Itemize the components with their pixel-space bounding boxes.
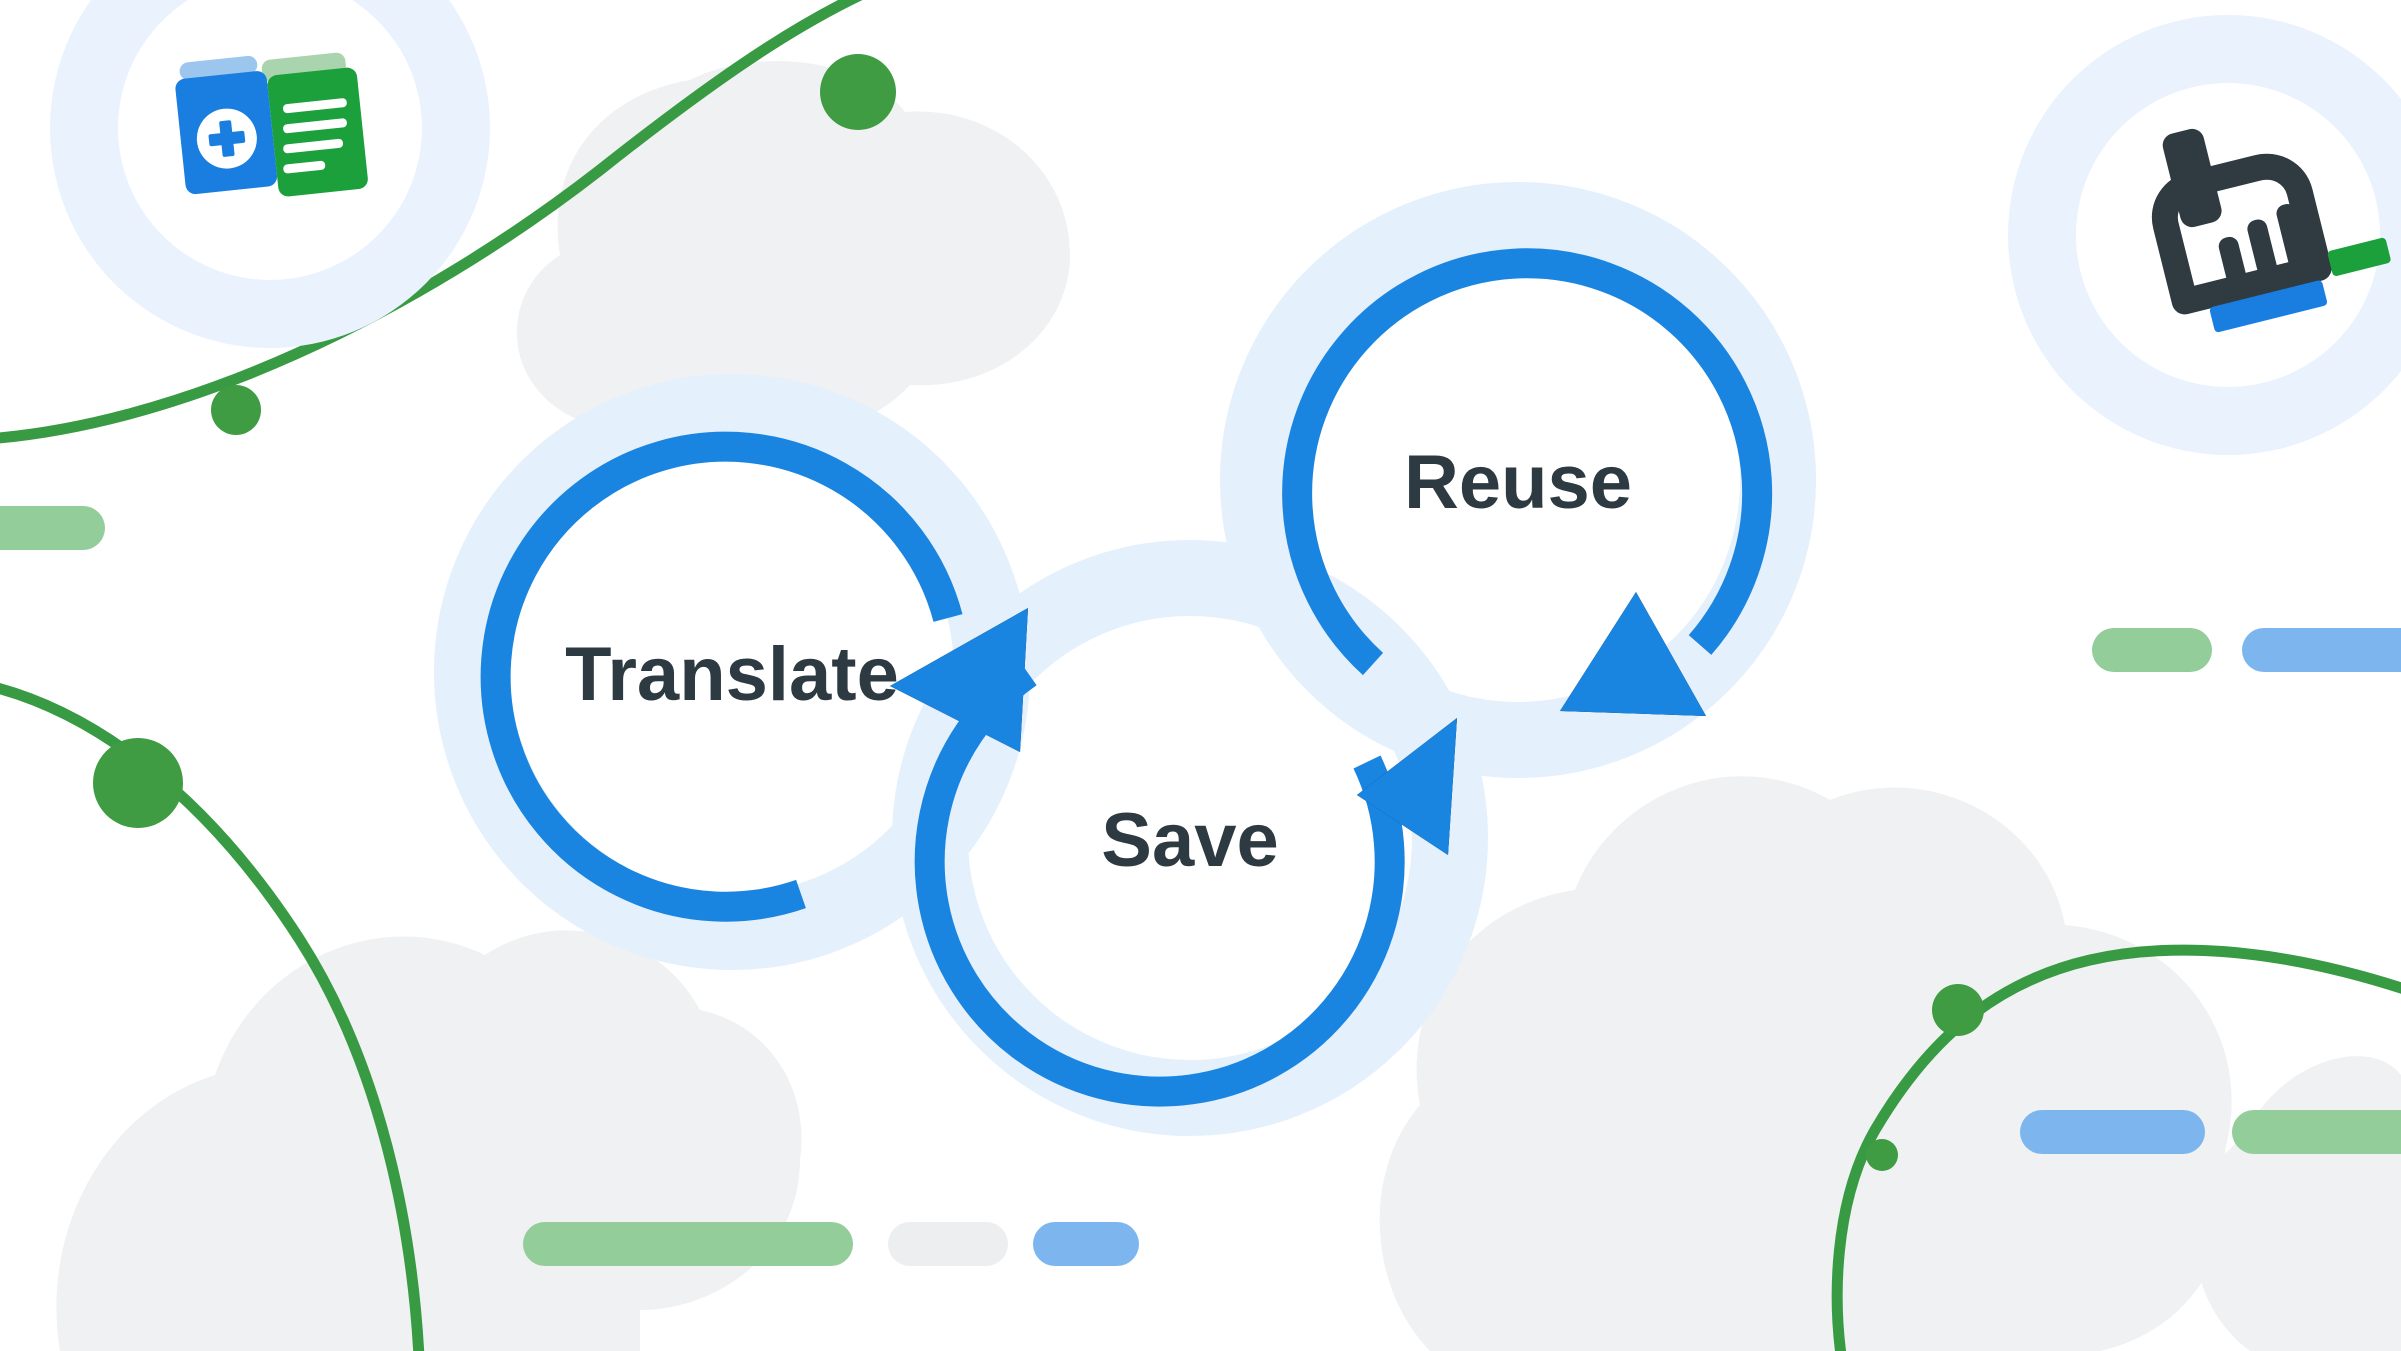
illustration-canvas: Translate Save Reuse bbox=[0, 0, 2401, 1351]
green-dot-medium bbox=[1932, 984, 1984, 1036]
green-dot-small bbox=[1866, 1139, 1898, 1171]
cloud-top-center bbox=[517, 61, 1070, 432]
green-dot-large bbox=[820, 54, 896, 130]
green-dot-large bbox=[93, 738, 183, 828]
pill-right-bottom-green bbox=[2232, 1110, 2401, 1154]
cloud-bottom-right bbox=[1380, 776, 2232, 1351]
reuse-label: Reuse bbox=[1404, 440, 1632, 525]
pill-right-top-blue bbox=[2242, 628, 2401, 672]
pill-bottom-blue bbox=[1033, 1222, 1139, 1266]
icon-halo-inner bbox=[2076, 83, 2380, 387]
green-dot-small bbox=[211, 385, 261, 435]
cycle-illustration: Translate Save Reuse bbox=[0, 0, 2401, 1351]
broom-clean-icon-group[interactable] bbox=[2008, 15, 2401, 455]
translate-cards-icon bbox=[173, 45, 369, 207]
pill-right-bottom-blue bbox=[2020, 1110, 2205, 1154]
pill-right-top-green bbox=[2092, 628, 2212, 672]
pill-bottom-gray bbox=[888, 1222, 1008, 1266]
pill-left-green bbox=[0, 506, 105, 550]
translate-label: Translate bbox=[565, 632, 899, 717]
card-front-green bbox=[267, 67, 369, 198]
translate-cards-icon-group[interactable] bbox=[50, 0, 490, 348]
cloud-bottom-left bbox=[56, 930, 801, 1351]
save-label: Save bbox=[1101, 798, 1279, 883]
pill-bottom-green bbox=[523, 1222, 853, 1266]
